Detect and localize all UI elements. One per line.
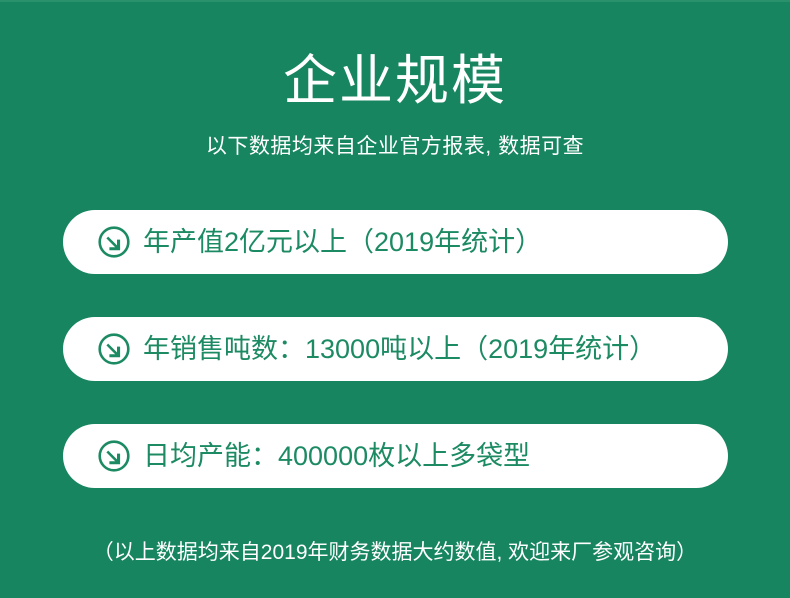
page-title: 企业规模: [0, 50, 790, 112]
stat-pill-daily-capacity: 日均产能：400000枚以上多袋型: [63, 424, 728, 488]
top-edge-highlight: [0, 0, 790, 2]
arrow-down-right-circle-icon: [97, 439, 131, 473]
arrow-down-right-circle-icon: [97, 332, 131, 366]
stat-pill-annual-output: 年产值2亿元以上（2019年统计）: [63, 210, 728, 274]
stat-pill-label: 年销售吨数：13000吨以上（2019年统计）: [143, 332, 656, 366]
footer-note: （以上数据均来自2019年财务数据大约数值, 欢迎来厂参观咨询）: [0, 539, 790, 567]
stat-pill-label: 日均产能：400000枚以上多袋型: [143, 439, 530, 473]
stat-pill-label: 年产值2亿元以上（2019年统计）: [143, 225, 542, 259]
stat-list: 年产值2亿元以上（2019年统计） 年销售吨数：13000吨以上（2019年统计…: [63, 210, 728, 488]
arrow-down-right-circle-icon: [97, 225, 131, 259]
page-subtitle: 以下数据均来自企业官方报表, 数据可查: [0, 133, 790, 161]
enterprise-scale-poster: 企业规模 以下数据均来自企业官方报表, 数据可查 年产值2亿元以上（2019年统…: [0, 0, 790, 598]
stat-pill-annual-sales-tonnage: 年销售吨数：13000吨以上（2019年统计）: [63, 317, 728, 381]
